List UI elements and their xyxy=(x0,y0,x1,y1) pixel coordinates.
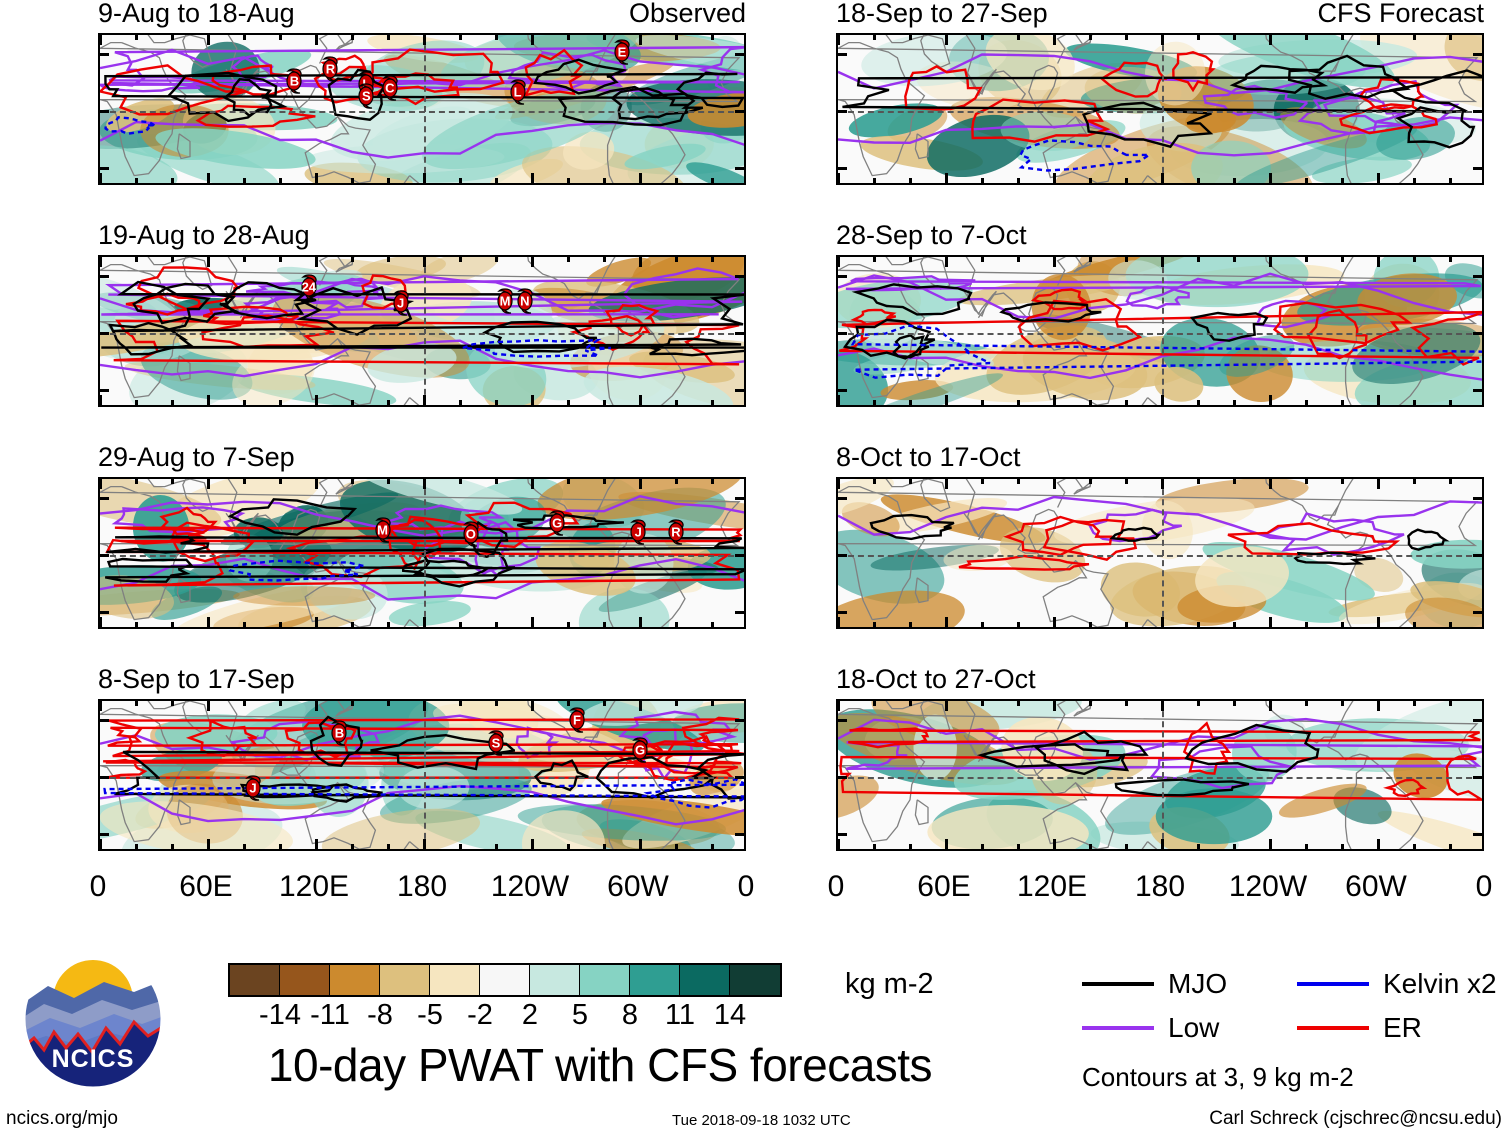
x-tick-mark xyxy=(1413,844,1416,849)
x-tick-mark xyxy=(351,35,354,40)
legend-item-kelvin: Kelvin x2 xyxy=(1297,968,1510,1000)
y-tick-mark xyxy=(100,167,109,170)
panel-title-fcst-3: 8-Oct to 17-Oct xyxy=(836,444,1021,471)
x-tick-mark xyxy=(945,395,948,405)
x-tick-mark xyxy=(945,479,948,489)
x-tick-mark xyxy=(945,257,948,267)
x-tick-mark xyxy=(909,35,912,40)
x-tick-mark xyxy=(531,173,534,183)
ncics-logo: NCICS xyxy=(22,948,164,1090)
x-tick-mark xyxy=(423,839,426,849)
colorbar-swatch-7 xyxy=(580,965,630,995)
x-tick-mark xyxy=(171,35,174,40)
x-tick-mark xyxy=(675,178,678,183)
legend-label-er: ER xyxy=(1383,1012,1422,1044)
x-tick-mark xyxy=(1017,400,1020,405)
panel-title-obs-1: 9-Aug to 18-Aug xyxy=(98,0,295,27)
x-tick-mark xyxy=(1413,257,1416,262)
x-tick-mark xyxy=(207,257,210,267)
x-tick-mark xyxy=(1053,839,1056,849)
x-tick-mark xyxy=(1341,844,1344,849)
x-tick-mark xyxy=(837,839,840,849)
x-tick-mark xyxy=(1449,178,1452,183)
x-tick-mark xyxy=(423,701,426,711)
x-tick-mark xyxy=(675,257,678,262)
storm-marker-S: S xyxy=(353,81,379,111)
dateline xyxy=(1162,35,1164,183)
x-tick-mark xyxy=(639,479,642,489)
x-tick-mark xyxy=(1053,257,1056,267)
x-tick-mark xyxy=(837,35,840,45)
y-tick-mark xyxy=(838,53,847,56)
x-tick-mark xyxy=(279,701,282,706)
x-tick-mark xyxy=(459,479,462,484)
x-tick-mark xyxy=(1449,257,1452,262)
x-tick-mark xyxy=(423,617,426,627)
x-tick-mark xyxy=(1161,701,1164,711)
x-tick-mark xyxy=(603,35,606,40)
x-tick-mark xyxy=(387,701,390,706)
x-tick-mark xyxy=(279,400,282,405)
y-tick-mark xyxy=(1473,497,1482,500)
x-tick-mark xyxy=(1341,35,1344,40)
footer-timestamp: Tue 2018-09-18 1032 UTC xyxy=(672,1112,851,1129)
x-tick-mark xyxy=(1269,617,1272,627)
storm-marker-F: F xyxy=(564,705,590,735)
x-tick-mark xyxy=(1305,35,1308,40)
x-tick-mark xyxy=(945,839,948,849)
x-tick-mark xyxy=(1197,35,1200,40)
x-tick-mark xyxy=(873,257,876,262)
y-tick-mark xyxy=(838,776,847,779)
colorbar-swatch-3 xyxy=(380,965,430,995)
y-tick-mark xyxy=(838,167,847,170)
map-obs-3: 30N030SMOGJR xyxy=(98,477,746,629)
x-tick-mark xyxy=(423,257,426,267)
x-tick-mark xyxy=(99,173,102,183)
storm-marker-M: M xyxy=(370,515,396,545)
page-title: 10-day PWAT with CFS forecasts xyxy=(200,1038,1000,1092)
x-tick-mark xyxy=(1233,400,1236,405)
y-tick-mark xyxy=(735,497,744,500)
x-tick-mark xyxy=(1413,35,1416,40)
x-tick-mark xyxy=(243,257,246,262)
equator-line xyxy=(838,555,1482,557)
x-tick-mark xyxy=(1053,35,1056,45)
storm-label: G xyxy=(544,515,570,530)
x-tick-mark xyxy=(1449,844,1452,849)
x-tick-mark xyxy=(387,479,390,484)
panel-title-obs-2: 19-Aug to 28-Aug xyxy=(98,222,310,249)
legend-item-low: Low xyxy=(1082,1012,1297,1044)
x-tick-mark xyxy=(459,257,462,262)
x-tick-mark xyxy=(1269,173,1272,183)
x-tick-mark xyxy=(243,479,246,484)
x-tick-mark xyxy=(315,257,318,267)
dateline xyxy=(424,257,426,405)
colorbar-tick--11: -11 xyxy=(310,999,350,1031)
x-tick-mark xyxy=(495,178,498,183)
x-tick-mark xyxy=(837,479,840,489)
x-tick-label-120E: 120E xyxy=(1017,872,1087,902)
x-tick-mark xyxy=(135,701,138,706)
x-tick-mark xyxy=(99,257,102,267)
storm-marker-C: C xyxy=(377,73,403,103)
y-tick-mark xyxy=(1473,611,1482,614)
x-tick-mark xyxy=(1017,622,1020,627)
y-tick-mark xyxy=(1473,332,1482,335)
map-obs-1: 30N030SBRLSCLE xyxy=(98,33,746,185)
x-tick-mark xyxy=(873,701,876,706)
x-tick-label-60E: 60E xyxy=(917,872,970,902)
equator-line xyxy=(100,555,744,557)
storm-marker-E: E xyxy=(609,37,635,67)
x-tick-mark xyxy=(1089,844,1092,849)
x-tick-mark xyxy=(423,395,426,405)
y-tick-mark xyxy=(100,53,109,56)
x-tick-mark xyxy=(1125,400,1128,405)
colorbar-tick--8: -8 xyxy=(367,999,393,1031)
storm-label: R xyxy=(317,62,343,77)
x-tick-mark xyxy=(207,617,210,627)
equator-line xyxy=(100,111,744,113)
dateline xyxy=(424,701,426,849)
y-tick-mark xyxy=(838,554,847,557)
dateline xyxy=(1162,257,1164,405)
x-tick-mark xyxy=(99,395,102,405)
x-tick-mark xyxy=(873,178,876,183)
x-tick-mark xyxy=(495,400,498,405)
panel-title-fcst-4: 18-Oct to 27-Oct xyxy=(836,666,1036,693)
x-tick-mark xyxy=(1269,35,1272,45)
x-tick-mark xyxy=(243,844,246,849)
legend-line-kelvin-icon xyxy=(1297,982,1369,986)
x-tick-mark xyxy=(315,479,318,489)
x-tick-mark xyxy=(1233,701,1236,706)
storm-label: R xyxy=(663,525,689,540)
equator-line xyxy=(838,333,1482,335)
colorbar-swatch-9 xyxy=(680,965,730,995)
x-tick-mark xyxy=(531,35,534,45)
y-tick-mark xyxy=(735,53,744,56)
x-tick-mark xyxy=(711,178,714,183)
x-tick-mark xyxy=(1269,839,1272,849)
x-tick-mark xyxy=(207,839,210,849)
x-tick-mark xyxy=(387,400,390,405)
dateline xyxy=(424,35,426,183)
y-tick-mark xyxy=(1473,833,1482,836)
y-tick-mark xyxy=(1473,167,1482,170)
x-tick-mark xyxy=(1305,622,1308,627)
x-tick-mark xyxy=(495,35,498,40)
x-tick-mark xyxy=(675,400,678,405)
x-tick-mark xyxy=(171,257,174,262)
x-tick-mark xyxy=(99,617,102,627)
x-tick-mark xyxy=(171,701,174,706)
x-tick-label-0: 0 xyxy=(90,872,107,902)
storm-marker-J: J xyxy=(388,288,414,318)
x-tick-mark xyxy=(315,395,318,405)
x-tick-mark xyxy=(1305,178,1308,183)
x-tick-mark xyxy=(1413,400,1416,405)
x-tick-mark xyxy=(639,617,642,627)
x-tick-mark xyxy=(1449,400,1452,405)
y-tick-mark xyxy=(1473,275,1482,278)
colorbar-tick-11: 11 xyxy=(665,999,695,1031)
x-tick-mark xyxy=(279,178,282,183)
y-tick-mark xyxy=(1473,554,1482,557)
colorbar-tick--5: -5 xyxy=(417,999,443,1031)
x-tick-mark xyxy=(279,257,282,262)
x-tick-mark xyxy=(603,178,606,183)
contour-legend: MJO Kelvin x2 Low ER Contours at 3, 9 kg… xyxy=(1082,962,1510,1093)
storm-marker-G: G xyxy=(627,735,653,765)
x-tick-mark xyxy=(1089,622,1092,627)
x-tick-mark xyxy=(423,479,426,489)
map-artwork xyxy=(838,701,1484,851)
x-tick-mark xyxy=(639,173,642,183)
storm-label: S xyxy=(353,88,379,103)
storm-marker-S: S xyxy=(483,728,509,758)
x-tick-mark xyxy=(135,178,138,183)
x-tick-label-0: 0 xyxy=(738,872,755,902)
x-tick-mark xyxy=(315,35,318,45)
x-tick-mark xyxy=(387,35,390,40)
x-tick-mark xyxy=(351,701,354,706)
x-tick-mark xyxy=(1377,701,1380,711)
x-tick-mark xyxy=(1305,257,1308,262)
y-tick-mark xyxy=(100,389,109,392)
x-tick-mark xyxy=(1449,622,1452,627)
panel-title-obs-3: 29-Aug to 7-Sep xyxy=(98,444,295,471)
x-tick-label-180: 180 xyxy=(1135,872,1185,902)
y-tick-mark xyxy=(838,110,847,113)
storm-label: F xyxy=(564,713,590,728)
x-tick-mark xyxy=(1089,701,1092,706)
x-tick-mark xyxy=(1413,178,1416,183)
x-tick-mark xyxy=(315,701,318,711)
storm-marker-24: 24 xyxy=(296,272,322,302)
x-tick-mark xyxy=(1161,479,1164,489)
x-tick-mark xyxy=(135,35,138,40)
panel-title-fcst-2: 28-Sep to 7-Oct xyxy=(836,222,1027,249)
x-tick-mark xyxy=(1269,257,1272,267)
y-tick-mark xyxy=(100,833,109,836)
x-tick-mark xyxy=(207,701,210,711)
x-tick-mark xyxy=(981,701,984,706)
legend-row-2: Low ER xyxy=(1082,1006,1510,1050)
x-tick-mark xyxy=(837,395,840,405)
x-tick-mark xyxy=(1197,479,1200,484)
colorbar-tick-14: 14 xyxy=(714,999,746,1031)
x-tick-mark xyxy=(279,35,282,40)
x-tick-mark xyxy=(837,701,840,711)
x-tick-mark xyxy=(531,257,534,267)
x-tick-mark xyxy=(495,257,498,262)
y-tick-mark xyxy=(100,554,109,557)
storm-marker-G: G xyxy=(544,508,570,538)
storm-label: L xyxy=(505,85,531,100)
x-tick-mark xyxy=(1197,844,1200,849)
y-tick-mark xyxy=(735,332,744,335)
x-tick-mark xyxy=(99,839,102,849)
y-tick-mark xyxy=(1473,389,1482,392)
x-tick-mark xyxy=(495,479,498,484)
x-tick-mark xyxy=(531,701,534,711)
x-tick-mark xyxy=(351,622,354,627)
map-fcst-4: 30N030S xyxy=(836,699,1484,851)
legend-line-low-icon xyxy=(1082,1026,1154,1030)
legend-item-mjo: MJO xyxy=(1082,968,1297,1000)
x-tick-mark xyxy=(603,479,606,484)
x-tick-mark xyxy=(981,178,984,183)
x-tick-mark xyxy=(675,844,678,849)
x-tick-mark xyxy=(1017,178,1020,183)
y-tick-mark xyxy=(1473,719,1482,722)
x-tick-mark xyxy=(873,35,876,40)
map-artwork xyxy=(100,35,746,185)
x-tick-mark xyxy=(1449,701,1452,706)
x-tick-mark xyxy=(1017,257,1020,262)
x-tick-mark xyxy=(1377,839,1380,849)
panel-title-fcst-1: 18-Sep to 27-Sep xyxy=(836,0,1048,27)
x-tick-mark xyxy=(279,622,282,627)
x-tick-mark xyxy=(909,844,912,849)
x-tick-mark xyxy=(567,35,570,40)
storm-label: 24 xyxy=(296,280,322,295)
y-tick-mark xyxy=(735,776,744,779)
x-tick-mark xyxy=(1125,178,1128,183)
y-tick-mark xyxy=(838,389,847,392)
storm-label: C xyxy=(377,81,403,96)
colorbar-tick-labels: -14-11-8-5-22581114 xyxy=(228,999,782,1035)
forecast-label: CFS Forecast xyxy=(1317,0,1484,27)
x-tick-mark xyxy=(243,35,246,40)
x-tick-mark xyxy=(531,395,534,405)
x-tick-mark xyxy=(1161,617,1164,627)
x-tick-mark xyxy=(711,701,714,706)
panel-title-obs-4: 8-Sep to 17-Sep xyxy=(98,666,295,693)
x-tick-mark xyxy=(135,400,138,405)
x-tick-mark xyxy=(711,844,714,849)
x-tick-mark xyxy=(711,479,714,484)
storm-label: M xyxy=(370,523,396,538)
y-tick-mark xyxy=(735,389,744,392)
x-tick-mark xyxy=(1161,173,1164,183)
storm-marker-J: J xyxy=(240,773,266,803)
x-tick-label-60E: 60E xyxy=(179,872,232,902)
x-tick-mark xyxy=(945,701,948,711)
x-tick-mark xyxy=(279,479,282,484)
x-tick-mark xyxy=(171,400,174,405)
y-tick-mark xyxy=(838,719,847,722)
x-tick-mark xyxy=(135,844,138,849)
x-tick-mark xyxy=(1125,479,1128,484)
map-obs-4: 30N030SBJSFG xyxy=(98,699,746,851)
x-tick-mark xyxy=(1413,701,1416,706)
legend-line-mjo-icon xyxy=(1082,982,1154,986)
x-tick-mark xyxy=(387,622,390,627)
storm-marker-R: R xyxy=(317,54,343,84)
colorbar-swatches xyxy=(228,963,782,997)
x-tick-mark xyxy=(315,173,318,183)
x-tick-mark xyxy=(873,479,876,484)
storm-label: J xyxy=(388,295,414,310)
x-tick-mark xyxy=(1197,257,1200,262)
x-tick-mark xyxy=(1161,395,1164,405)
storm-label: J xyxy=(625,525,651,540)
x-tick-mark xyxy=(1125,35,1128,40)
x-tick-mark xyxy=(1233,844,1236,849)
map-obs-2: 30N030S24JMN xyxy=(98,255,746,407)
map-fcst-1: 30N030S xyxy=(836,33,1484,185)
storm-label: E xyxy=(609,45,635,60)
legend-label-low: Low xyxy=(1168,1012,1219,1044)
x-tick-mark xyxy=(909,178,912,183)
x-tick-mark xyxy=(1089,400,1092,405)
x-tick-mark xyxy=(351,479,354,484)
x-tick-mark xyxy=(981,257,984,262)
x-tick-mark xyxy=(675,35,678,40)
colorbar-swatch-8 xyxy=(630,965,680,995)
legend-item-er: ER xyxy=(1297,1012,1510,1044)
x-tick-mark xyxy=(351,400,354,405)
y-tick-mark xyxy=(735,167,744,170)
y-tick-mark xyxy=(100,611,109,614)
colorbar: -14-11-8-5-22581114 xyxy=(228,963,782,1035)
colorbar-units-label: kg m-2 xyxy=(845,968,934,1001)
legend-line-er-icon xyxy=(1297,1026,1369,1030)
x-tick-mark xyxy=(1233,257,1236,262)
map-artwork xyxy=(100,701,746,851)
x-tick-mark xyxy=(639,395,642,405)
map-fcst-2: 30N030S xyxy=(836,255,1484,407)
x-tick-mark xyxy=(1125,701,1128,706)
x-tick-mark xyxy=(207,395,210,405)
x-tick-mark xyxy=(981,844,984,849)
colorbar-tick-2: 2 xyxy=(522,999,538,1031)
x-tick-label-0: 0 xyxy=(828,872,845,902)
x-tick-mark xyxy=(837,617,840,627)
x-tick-mark xyxy=(135,257,138,262)
x-tick-mark xyxy=(459,622,462,627)
x-tick-mark xyxy=(135,622,138,627)
x-tick-mark xyxy=(1161,257,1164,267)
storm-label: B xyxy=(326,726,352,741)
x-tick-label-60W: 60W xyxy=(607,872,669,902)
x-tick-mark xyxy=(945,173,948,183)
x-tick-mark xyxy=(1377,257,1380,267)
colorbar-swatch-4 xyxy=(430,965,480,995)
x-tick-mark xyxy=(1341,701,1344,706)
x-tick-mark xyxy=(1089,257,1092,262)
x-tick-mark xyxy=(1341,479,1344,484)
y-tick-mark xyxy=(838,611,847,614)
x-tick-mark xyxy=(207,173,210,183)
x-tick-mark xyxy=(1341,622,1344,627)
x-tick-mark xyxy=(1089,479,1092,484)
x-tick-mark xyxy=(981,400,984,405)
equator-line xyxy=(100,333,744,335)
x-tick-mark xyxy=(207,479,210,489)
storm-label: S xyxy=(483,735,509,750)
x-tick-mark xyxy=(1017,844,1020,849)
x-tick-mark xyxy=(1053,617,1056,627)
y-tick-mark xyxy=(735,110,744,113)
x-tick-mark xyxy=(567,844,570,849)
x-tick-label-0: 0 xyxy=(1476,872,1493,902)
x-tick-mark xyxy=(711,35,714,40)
